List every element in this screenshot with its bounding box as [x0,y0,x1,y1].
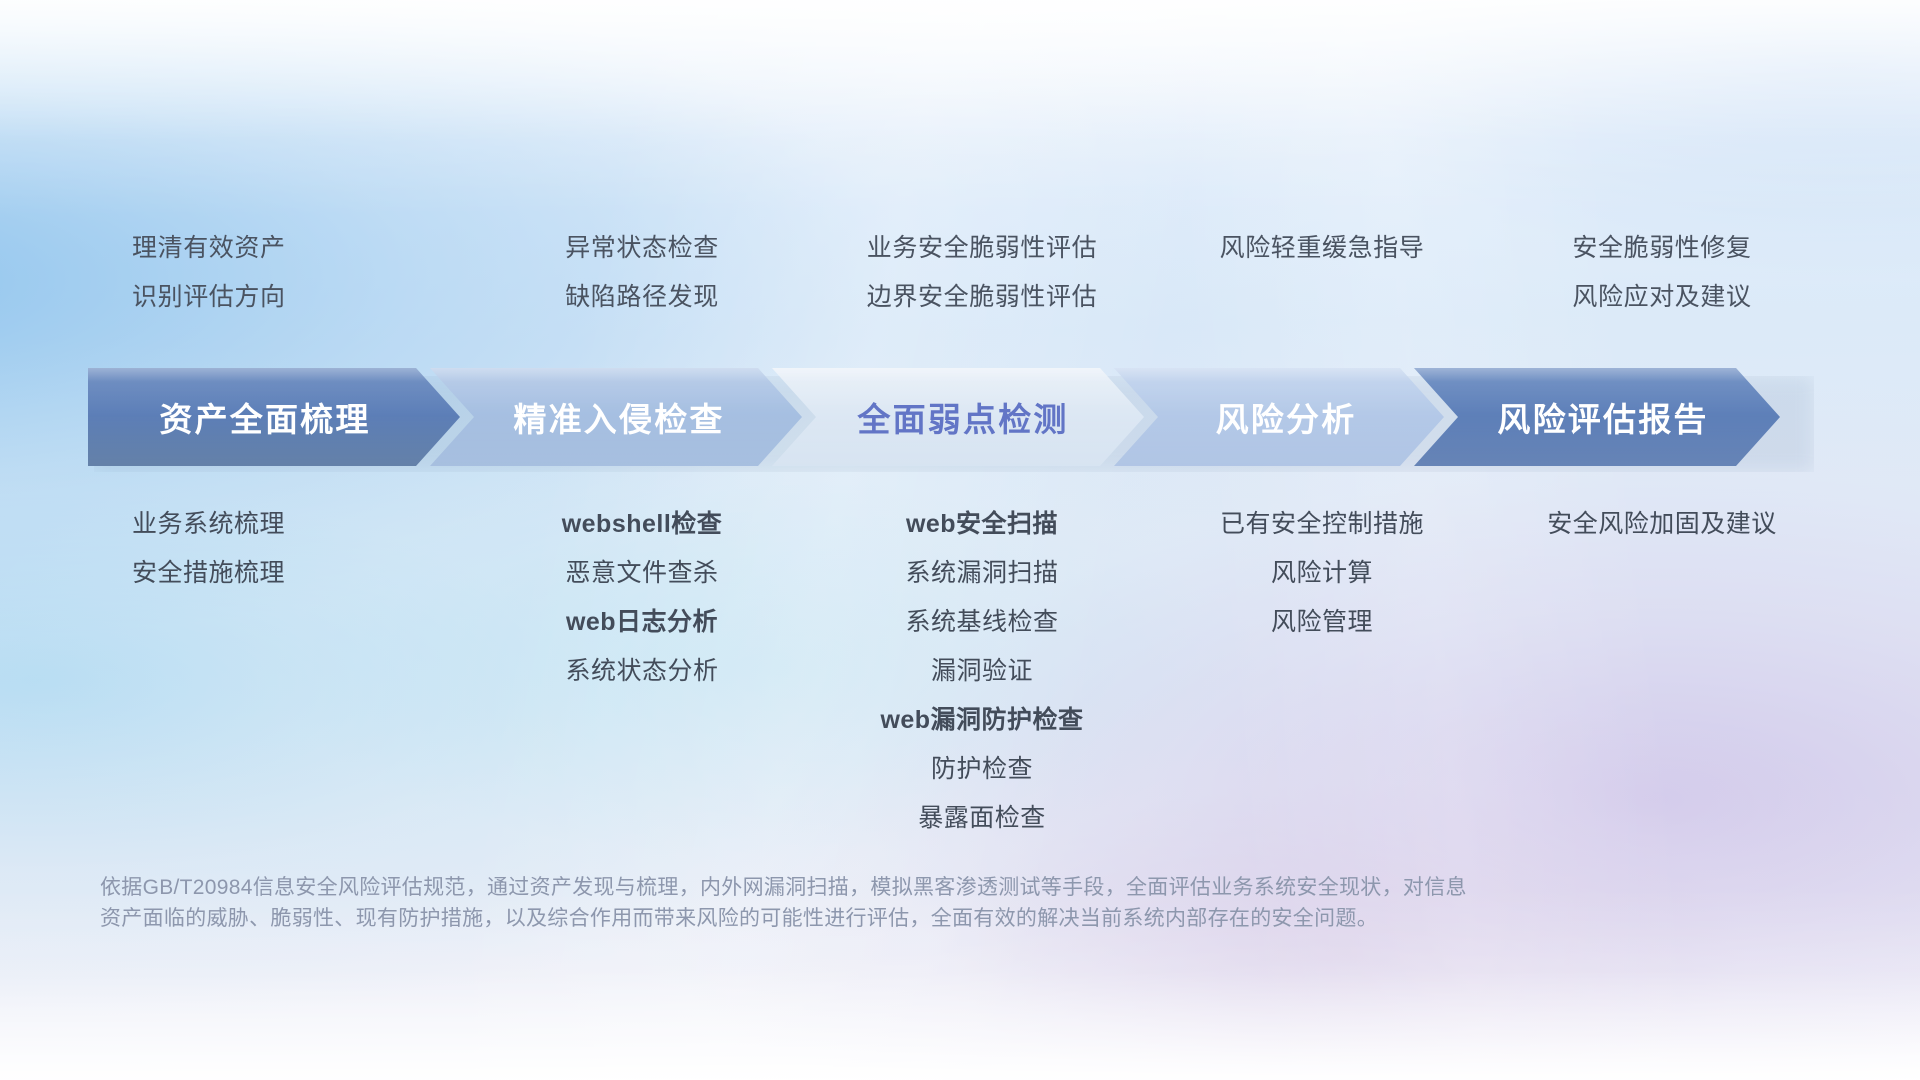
top-labels-stage-3: 业务安全脆弱性评估 边界安全脆弱性评估 [812,224,1152,344]
top-label: 安全脆弱性修复 [1572,224,1751,273]
bottom-label: 安全风险加固及建议 [1547,500,1777,549]
top-label: 理清有效资产 [132,224,286,273]
chevron-label: 资产全面梳理 [159,393,370,441]
chevron-stage-5[interactable]: 风险评估报告 [1414,368,1780,466]
top-label: 业务安全脆弱性评估 [867,224,1097,273]
chevron-stage-2[interactable]: 精准入侵检查 [430,368,802,466]
bottom-labels-stage-4: 已有安全控制措施 风险计算 风险管理 [1152,500,1492,647]
bottom-labels-stage-1: 业务系统梳理 安全措施梳理 [88,500,472,598]
footer-line: 资产面临的威胁、脆弱性、现有防护措施，以及综合作用而带来风险的可能性进行评估，全… [100,903,1660,934]
bottom-label: 恶意文件查杀 [565,549,718,598]
chevron-label: 风险分析 [1216,393,1357,441]
chevron-label: 精准入侵检查 [513,393,724,441]
bottom-label: 业务系统梳理 [132,500,285,549]
bottom-label: webshell检查 [562,500,723,549]
top-label: 风险应对及建议 [1572,273,1751,322]
bottom-label: 系统漏洞扫描 [905,549,1058,598]
chevron-label: 风险评估报告 [1497,393,1708,441]
bottom-label: web安全扫描 [906,500,1058,549]
diagram-content: 理清有效资产 识别评估方向 异常状态检查 缺陷路径发现 业务安全脆弱性评估 边界… [0,0,1920,1080]
top-labels-stage-5: 安全脆弱性修复 风险应对及建议 [1492,224,1832,344]
bottom-label: 系统状态分析 [565,647,718,696]
bottom-labels-stage-3: web安全扫描 系统漏洞扫描 系统基线检查 漏洞验证 web漏洞防护检查 防护检… [812,500,1152,843]
bottom-label: web漏洞防护检查 [880,696,1083,745]
bottom-label: 漏洞验证 [931,647,1033,696]
footer-line: 依据GB/T20984信息安全风险评估规范，通过资产发现与梳理，内外网漏洞扫描，… [100,872,1660,903]
slide-canvas: 理清有效资产 识别评估方向 异常状态检查 缺陷路径发现 业务安全脆弱性评估 边界… [0,0,1920,1080]
bottom-labels-stage-5: 安全风险加固及建议 [1492,500,1832,549]
chevron-stage-1[interactable]: 资产全面梳理 [88,368,460,466]
bottom-label: 系统基线检查 [905,598,1058,647]
top-label: 缺陷路径发现 [565,273,719,322]
footer-description: 依据GB/T20984信息安全风险评估规范，通过资产发现与梳理，内外网漏洞扫描，… [100,872,1660,934]
bottom-label: 防护检查 [931,745,1033,794]
top-label: 风险轻重缓急指导 [1220,224,1425,273]
bottom-labels-stage-2: webshell检查 恶意文件查杀 web日志分析 系统状态分析 [472,500,812,696]
top-label: 异常状态检查 [565,224,719,273]
top-label: 识别评估方向 [132,273,286,322]
bottom-label: 暴露面检查 [918,794,1046,843]
bottom-label: 已有安全控制措施 [1220,500,1424,549]
bottom-label: web日志分析 [566,598,718,647]
top-labels-stage-1: 理清有效资产 识别评估方向 [88,224,472,344]
bottom-label: 风险管理 [1271,598,1373,647]
bottom-label: 风险计算 [1271,549,1373,598]
bottom-label-row: 业务系统梳理 安全措施梳理 webshell检查 恶意文件查杀 web日志分析 … [88,500,1832,843]
chevron-stage-4[interactable]: 风险分析 [1114,368,1444,466]
chevron-stage-3[interactable]: 全面弱点检测 [772,368,1144,466]
top-labels-stage-4: 风险轻重缓急指导 [1152,224,1492,344]
process-chevron-band: 资产全面梳理 精准入侵检查 全面弱点检测 风险分析 风险评估报告 [88,368,1838,466]
top-label: 边界安全脆弱性评估 [867,273,1097,322]
chevron-label: 全面弱点检测 [857,393,1068,441]
top-label-row: 理清有效资产 识别评估方向 异常状态检查 缺陷路径发现 业务安全脆弱性评估 边界… [88,224,1832,344]
top-labels-stage-2: 异常状态检查 缺陷路径发现 [472,224,812,344]
bottom-label: 安全措施梳理 [132,549,285,598]
